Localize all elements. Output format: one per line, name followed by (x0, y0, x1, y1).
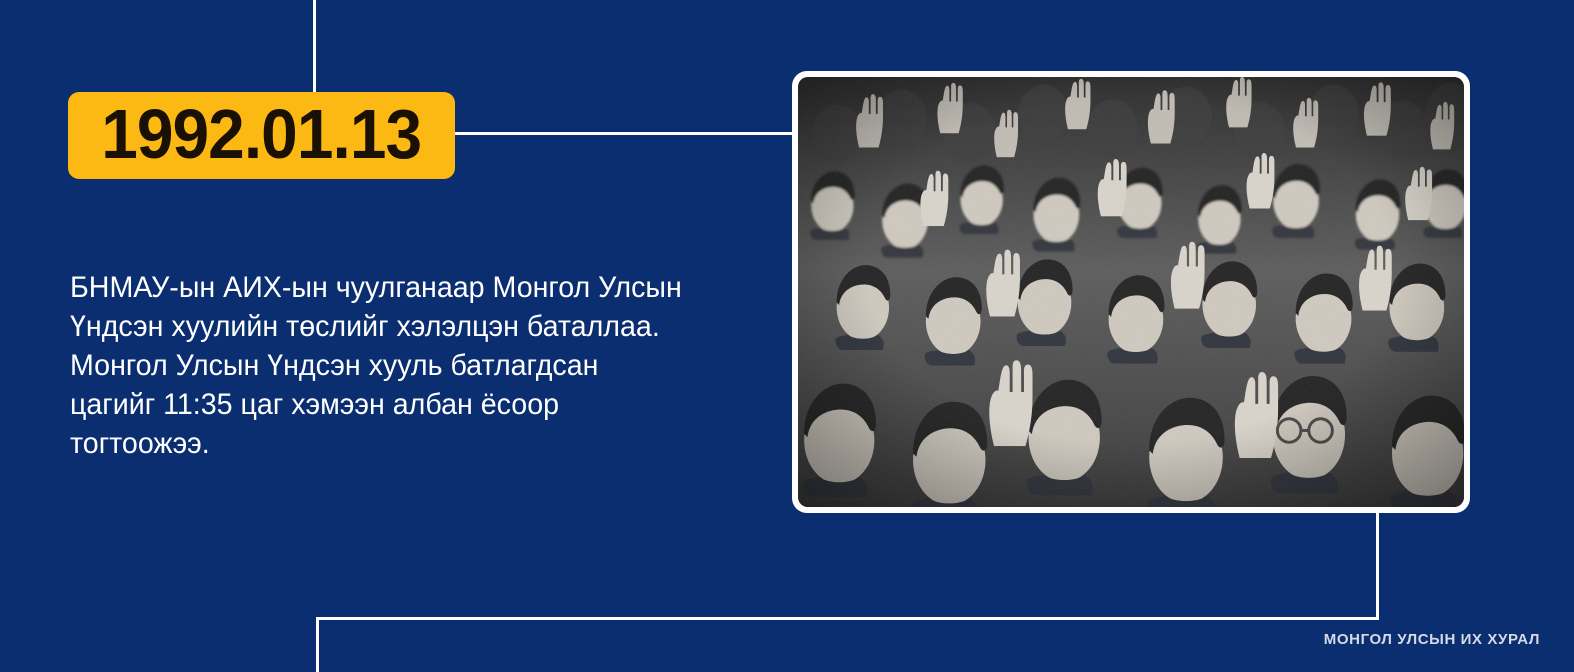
footer-caption: МОНГОЛ УЛСЫН ИХ ХУРАЛ (1324, 631, 1540, 648)
connector-line-top-vertical (313, 0, 316, 93)
date-badge: 1992.01.13 (68, 92, 455, 179)
connector-line-photo-down (1376, 512, 1379, 620)
body-paragraph: БНМАУ-ын АИХ-ын чуулганаар Монгол Улсын … (70, 268, 691, 463)
connector-line-bottom-horizontal (316, 617, 1379, 620)
connector-line-badge-right (455, 132, 794, 135)
date-badge-label: 1992.01.13 (102, 99, 422, 169)
photo-card (792, 71, 1470, 513)
assembly-voting-photo-illustration (798, 77, 1464, 507)
connector-line-bottom-vertical (316, 617, 319, 672)
archival-photo (798, 77, 1464, 507)
timeline-card: 1992.01.13 БНМАУ-ын АИХ-ын чуулганаар Мо… (0, 0, 1574, 672)
